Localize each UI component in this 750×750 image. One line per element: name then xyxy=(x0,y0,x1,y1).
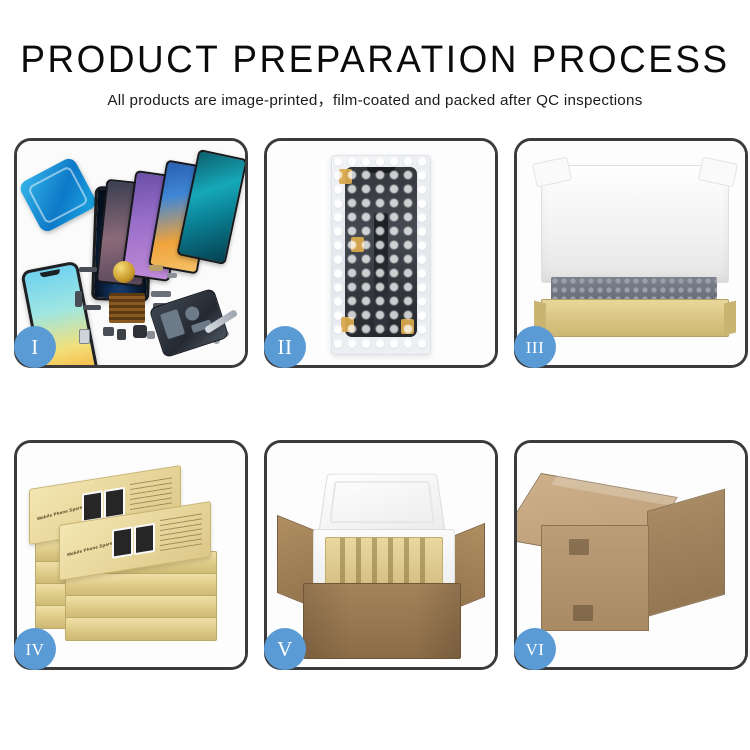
phone-parts-scene xyxy=(17,141,245,365)
process-step-1: I xyxy=(14,138,248,368)
header: PRODUCT PREPARATION PROCESS All products… xyxy=(0,0,750,111)
process-step-3: III xyxy=(514,138,748,368)
carton-body-graphic xyxy=(303,583,461,659)
stacked-box xyxy=(65,573,217,597)
step-badge-5: V xyxy=(264,628,306,670)
carton-side-face xyxy=(647,489,725,617)
step-badge-1: I xyxy=(14,326,56,368)
sealed-carton-scene xyxy=(517,443,745,667)
step-3-image xyxy=(517,141,745,365)
stacked-box xyxy=(65,617,217,641)
kraft-tray-graphic xyxy=(541,299,729,337)
tape-graphic xyxy=(351,237,364,252)
box-stack-scene: Mobile Phone Spare Parts Mobile Phone Sp… xyxy=(17,443,245,667)
step-badge-4: IV xyxy=(14,628,56,670)
process-grid: I II xyxy=(14,138,748,670)
inner-boxes-graphic xyxy=(325,537,443,585)
process-step-2: II xyxy=(264,138,498,368)
stacked-box xyxy=(65,595,217,619)
foam-box-lid-graphic xyxy=(318,474,445,533)
infographic-page: PRODUCT PREPARATION PROCESS All products… xyxy=(0,0,750,750)
step-6-image xyxy=(517,443,745,667)
tape-graphic xyxy=(341,317,354,332)
carton-marking xyxy=(573,605,593,621)
carton-packing-scene xyxy=(267,443,495,667)
carton-marking xyxy=(569,539,589,555)
step-badge-6: VI xyxy=(514,628,556,670)
step-badge-3: III xyxy=(514,326,556,368)
carton-front-face xyxy=(541,525,649,631)
step-4-image: Mobile Phone Spare Parts Mobile Phone Sp… xyxy=(17,443,245,667)
step-1-image xyxy=(17,141,245,365)
page-subtitle: All products are image-printed，film-coat… xyxy=(0,91,750,111)
flex-cable-graphic xyxy=(374,213,388,331)
white-foam-lid-graphic xyxy=(541,165,729,283)
page-title: PRODUCT PREPARATION PROCESS xyxy=(11,38,739,82)
process-step-5: V xyxy=(264,440,498,670)
step-badge-2: II xyxy=(264,326,306,368)
bubble-wrap-scene xyxy=(267,141,495,365)
step-5-image xyxy=(267,443,495,667)
process-step-6: VI xyxy=(514,440,748,670)
process-step-4: Mobile Phone Spare Parts Mobile Phone Sp… xyxy=(14,440,248,670)
tape-graphic xyxy=(339,169,352,184)
tape-graphic xyxy=(401,319,414,334)
step-2-image xyxy=(267,141,495,365)
open-box-scene xyxy=(517,141,745,365)
